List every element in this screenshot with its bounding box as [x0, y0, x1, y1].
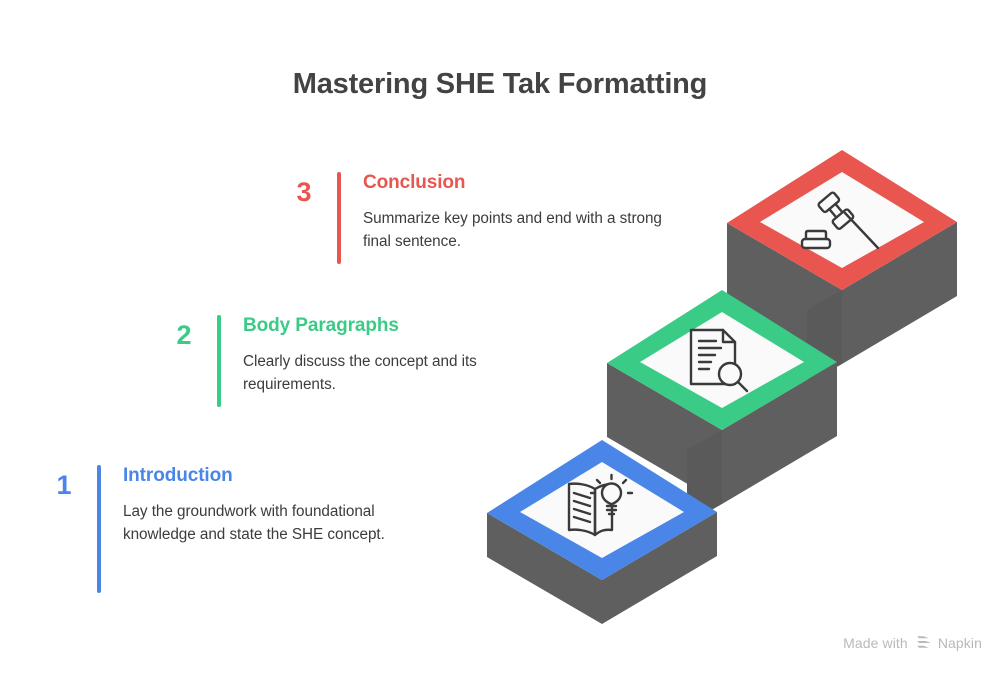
step-item-1: 1 Introduction Lay the groundwork with f… [43, 465, 423, 593]
step-accent-bar-2 [217, 315, 221, 407]
step-description-1: Lay the groundwork with foundational kno… [123, 501, 423, 547]
step-number-1: 1 [43, 465, 85, 499]
step-text-3: Conclusion Summarize key points and end … [363, 172, 683, 254]
step-item-2: 2 Body Paragraphs Clearly discuss the co… [163, 315, 548, 407]
watermark-prefix: Made with [843, 635, 908, 651]
watermark-brand: Napkin [938, 635, 982, 651]
napkin-watermark: Made with Napkin [843, 635, 982, 651]
step-text-1: Introduction Lay the groundwork with fou… [123, 465, 423, 547]
step-text-2: Body Paragraphs Clearly discuss the conc… [243, 315, 548, 397]
napkin-chevron-logo [915, 635, 932, 651]
step-description-3: Summarize key points and end with a stro… [363, 208, 683, 254]
step-number-2: 2 [163, 315, 205, 349]
step-heading-3: Conclusion [363, 172, 683, 194]
step-accent-bar-3 [337, 172, 341, 264]
step-description-2: Clearly discuss the concept and its requ… [243, 351, 548, 397]
infographic-canvas: Mastering SHE Tak Formatting [0, 0, 1000, 675]
step-number-3: 3 [283, 172, 325, 206]
step-heading-2: Body Paragraphs [243, 315, 548, 337]
step-item-3: 3 Conclusion Summarize key points and en… [283, 172, 683, 264]
step-accent-bar-1 [97, 465, 101, 593]
step-heading-1: Introduction [123, 465, 423, 487]
